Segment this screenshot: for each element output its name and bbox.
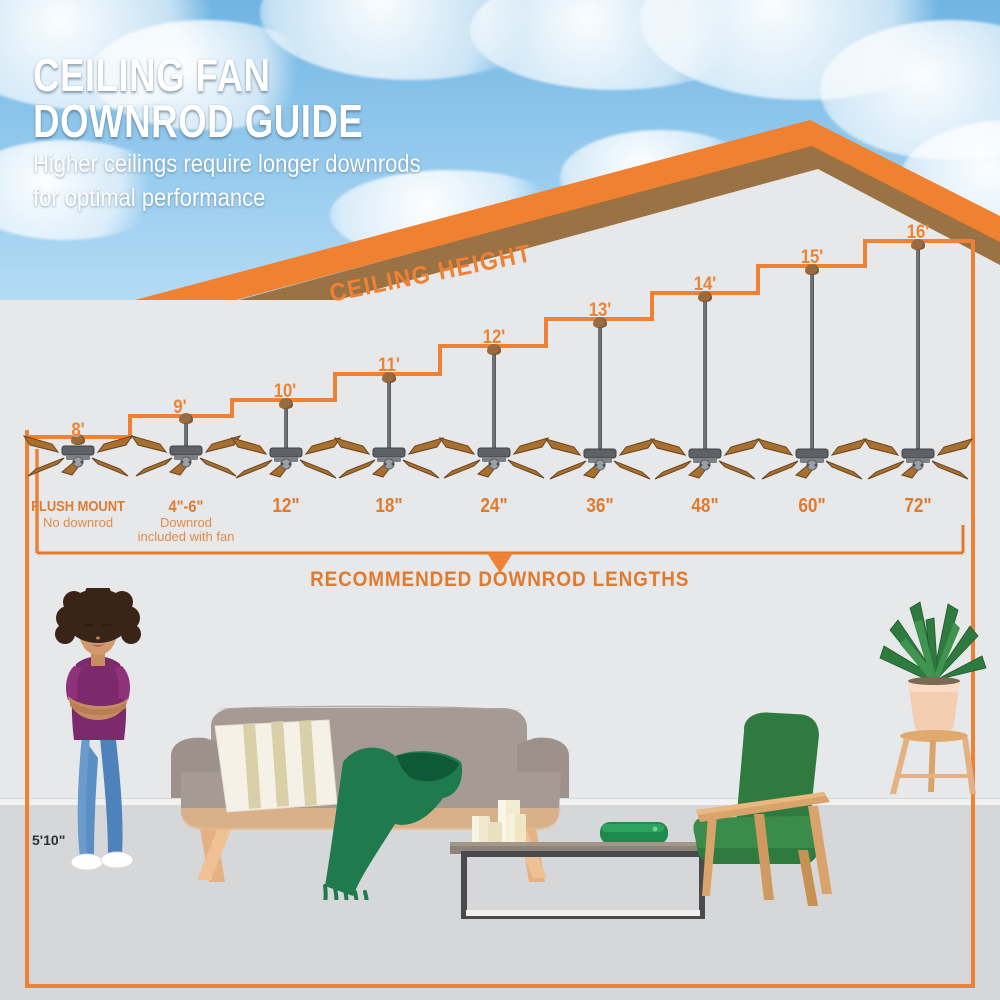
downrod-label-60: 60" <box>798 495 825 518</box>
downrod-label-18: 18" <box>375 495 402 518</box>
ceiling-label-8: 8' <box>71 420 84 442</box>
downrod-label-36: 36" <box>586 495 613 518</box>
downrod-note-4-6-a: Downrod <box>160 516 212 530</box>
coffee-table-illustration <box>450 800 720 930</box>
downrod-16 <box>916 247 920 453</box>
ceiling-label-9: 9' <box>173 397 186 419</box>
subtitle-line-1: Higher ceilings require longer downrods <box>33 150 579 178</box>
title-line-1: CEILING FAN <box>33 52 529 98</box>
ceiling-label-11: 11' <box>378 355 400 377</box>
lounge-chair-illustration <box>690 710 910 910</box>
ceiling-label-16: 16' <box>907 222 930 244</box>
plant-stand-illustration <box>878 596 988 796</box>
ceiling-fan-16 <box>858 431 978 491</box>
ceiling-fan-14 <box>645 431 765 491</box>
downrod-note-flush: No downrod <box>43 516 113 530</box>
ceiling-fan-11 <box>329 430 449 490</box>
green-book <box>600 822 668 844</box>
downrod-14 <box>703 299 707 453</box>
downrod-label-flush: FLUSH MOUNT <box>31 498 125 515</box>
striped-pillow <box>215 720 337 812</box>
downrod-15 <box>810 272 814 453</box>
downrod-label-72: 72" <box>904 495 931 518</box>
title-block: CEILING FAN DOWNROD GUIDE Higher ceiling… <box>33 52 653 212</box>
downrod-label-24: 24" <box>480 495 507 518</box>
ceiling-fan-12 <box>434 430 554 490</box>
downrod-axis-label-text: RECOMMENDED DOWNROD LENGTHS <box>310 568 689 592</box>
border-bottom <box>25 984 975 988</box>
downrod-note-4-6-b: included with fan <box>138 530 235 544</box>
downrod-label-48: 48" <box>691 495 718 518</box>
downrod-label-12: 12" <box>272 495 299 518</box>
ceiling-label-14: 14' <box>694 274 717 296</box>
downrod-label-4-6: 4"-6" <box>168 497 203 517</box>
ceiling-fan-15 <box>752 431 872 491</box>
subtitle-line-2: for optimal performance <box>33 184 579 212</box>
ceiling-label-15: 15' <box>801 247 824 269</box>
title-line-2: DOWNROD GUIDE <box>33 98 529 144</box>
ceiling-label-10: 10' <box>274 381 297 403</box>
candles-group <box>472 800 526 842</box>
ceiling-fan-13 <box>540 431 660 491</box>
ceiling-label-13: 13' <box>589 300 612 322</box>
ceiling-fan-10 <box>226 430 346 490</box>
person-height-label: 5'10" <box>32 832 65 848</box>
ceiling-label-12: 12' <box>483 327 506 349</box>
infographic-root: CEILING FAN DOWNROD GUIDE Higher ceiling… <box>0 0 1000 1000</box>
